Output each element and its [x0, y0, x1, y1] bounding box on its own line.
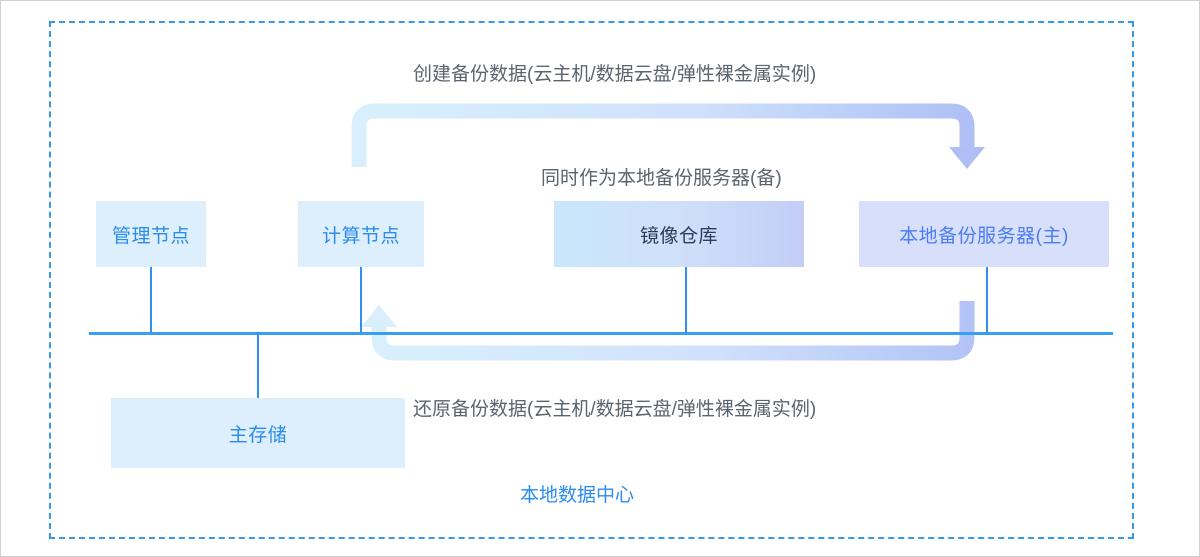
- connector-compute-node: [360, 267, 362, 333]
- create-backup-flow-label: 创建备份数据(云主机/数据云盘/弹性裸金属实例): [413, 59, 816, 86]
- node-image-repository-label: 镜像仓库: [640, 221, 718, 248]
- connector-image-repository: [685, 267, 687, 333]
- node-local-backup-server-primary[interactable]: 本地备份服务器(主): [859, 201, 1109, 267]
- local-datacenter-label: 本地数据中心: [520, 480, 634, 507]
- node-compute-node-label: 计算节点: [322, 221, 400, 248]
- datacenter-bus-line: [89, 332, 1113, 335]
- diagram-canvas: 管理节点 计算节点 镜像仓库 本地备份服务器(主) 主存储 创建备份数据(云主机…: [0, 0, 1200, 557]
- restore-backup-flow-label: 还原备份数据(云主机/数据云盘/弹性裸金属实例): [413, 394, 816, 421]
- connector-management-node: [150, 267, 152, 333]
- node-management-node[interactable]: 管理节点: [96, 201, 206, 267]
- node-image-repository[interactable]: 镜像仓库: [554, 201, 804, 267]
- node-management-node-label: 管理节点: [112, 221, 190, 248]
- node-primary-storage-label: 主存储: [229, 420, 288, 447]
- connector-local-backup-server: [986, 267, 988, 333]
- node-compute-node[interactable]: 计算节点: [298, 201, 424, 267]
- connector-primary-storage: [257, 332, 259, 398]
- standby-server-note: 同时作为本地备份服务器(备): [541, 163, 782, 190]
- node-primary-storage[interactable]: 主存储: [111, 398, 405, 468]
- node-local-backup-server-primary-label: 本地备份服务器(主): [899, 221, 1069, 248]
